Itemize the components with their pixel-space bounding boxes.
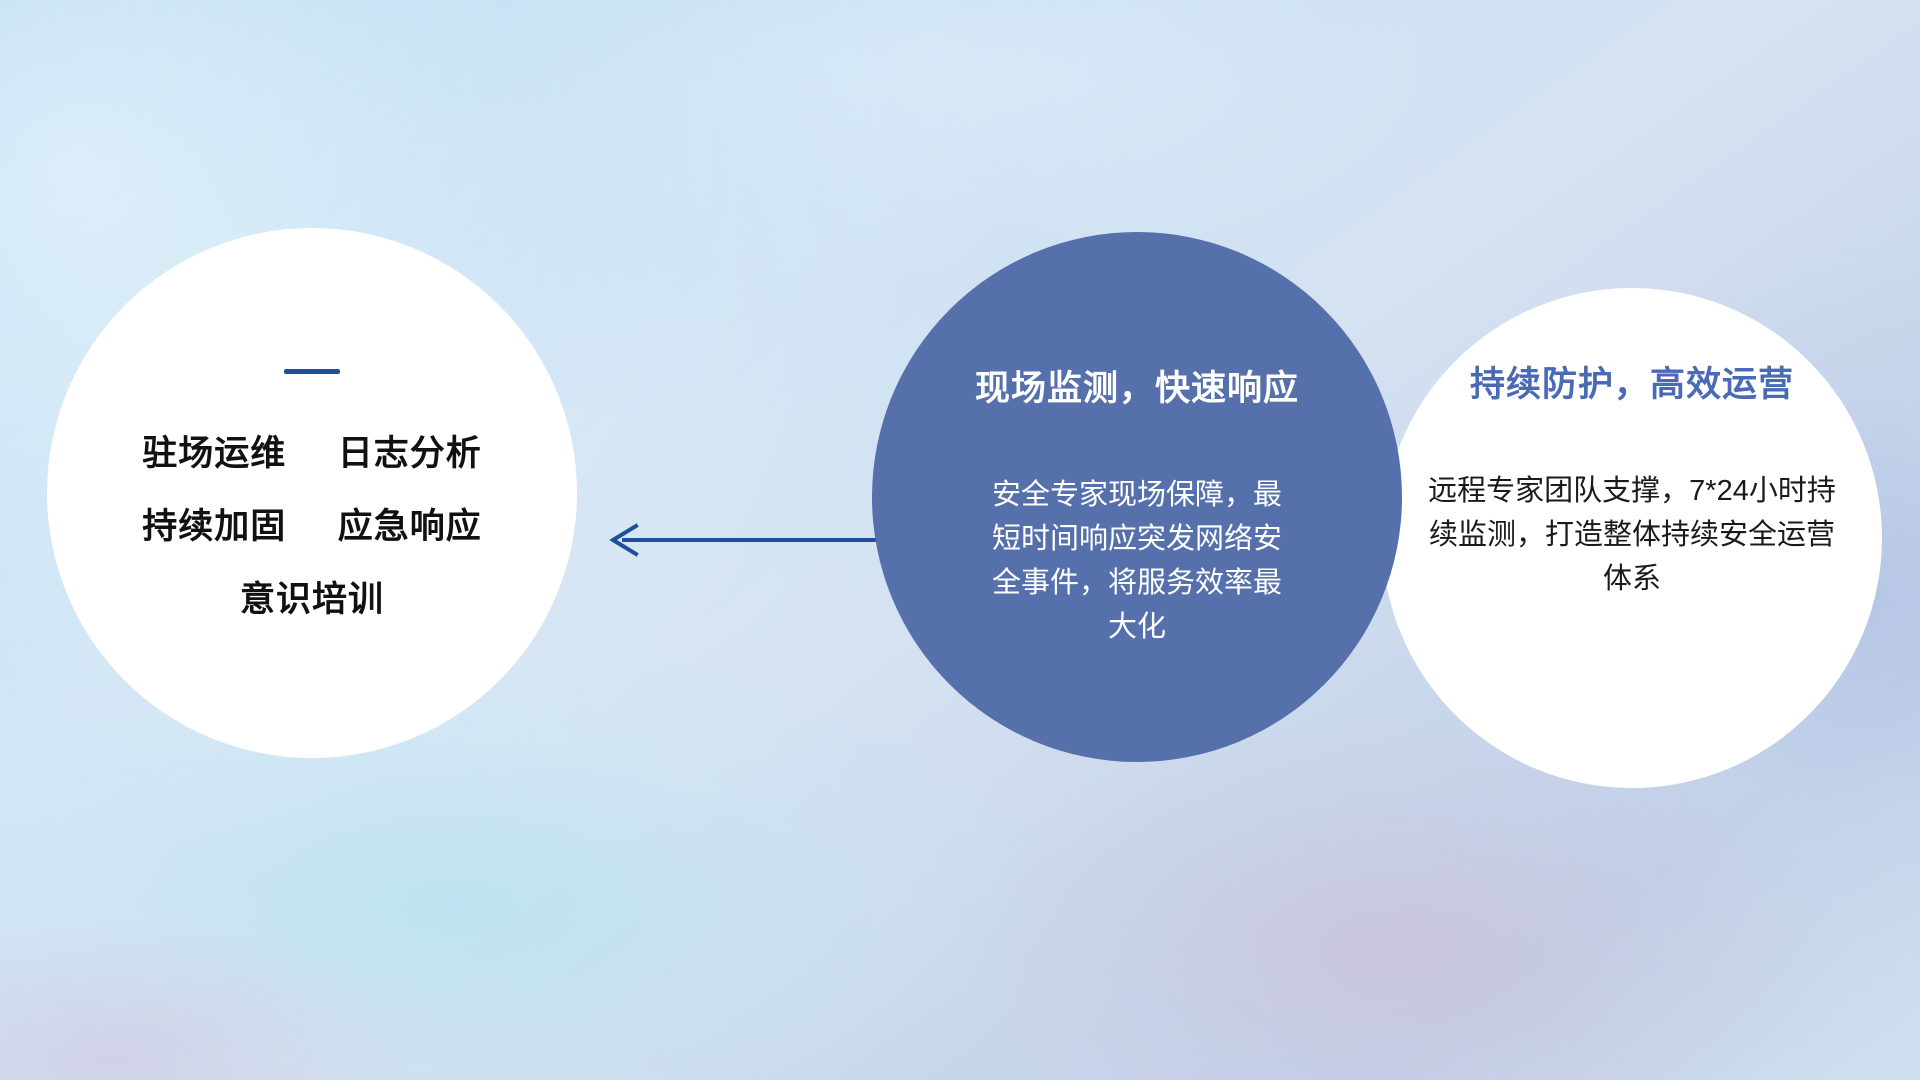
middle-service-circle[interactable] (872, 232, 1402, 762)
capability-label: 持续加固 (142, 507, 286, 546)
flow-arrow-icon (600, 515, 890, 565)
capability-label: 意识培训 (240, 580, 384, 619)
capability-label: 应急响应 (338, 507, 482, 546)
capability-row: 持续加固 应急响应 (142, 509, 482, 544)
right-card-body: 远程专家团队支撑，7*24小时持续监测，打造整体持续安全运营体系 (1422, 469, 1842, 601)
divider-line (284, 369, 340, 374)
left-capability-content: 驻场运维 日志分析 持续加固 应急响应 意识培训 (47, 228, 577, 758)
right-service-content: 持续防护，高效运营 远程专家团队支撑，7*24小时持续监测，打造整体持续安全运营… (1382, 288, 1882, 788)
capability-row: 驻场运维 日志分析 (142, 436, 482, 471)
slide-canvas: 驻场运维 日志分析 持续加固 应急响应 意识培训 现场监测，快速响应 安全专家现… (0, 0, 1920, 1080)
capability-row: 意识培训 (240, 582, 384, 617)
capability-label: 日志分析 (338, 434, 482, 473)
right-card-title: 持续防护，高效运营 (1470, 356, 1794, 407)
capability-label: 驻场运维 (142, 434, 286, 473)
